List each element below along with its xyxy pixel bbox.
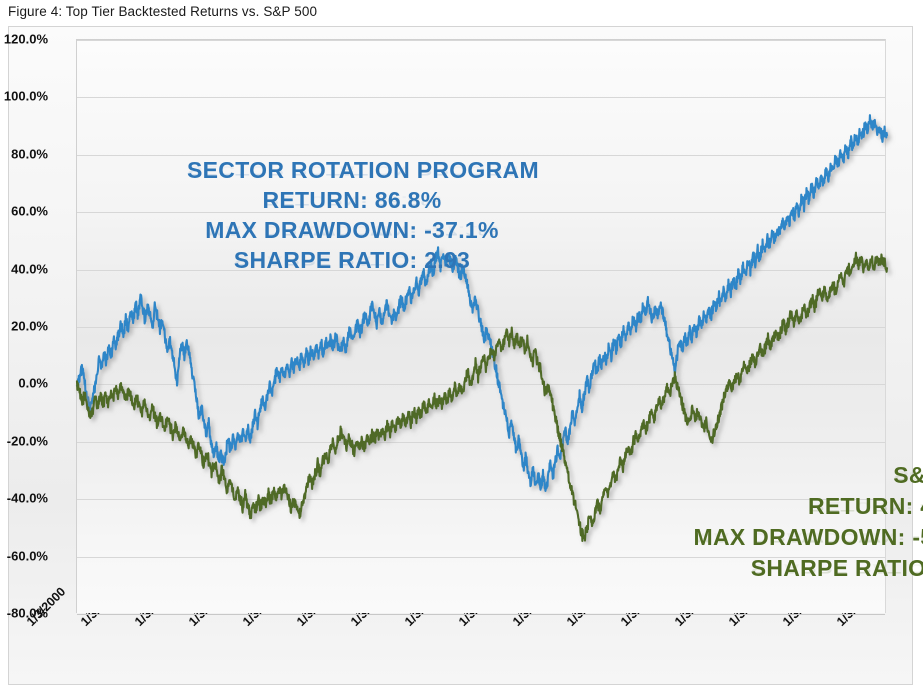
annotation-sp500-text: MAX DRAWDOWN: -53.5% bbox=[677, 526, 923, 549]
chart-frame: 120.0%100.0%80.0%60.0%40.0%20.0%0.0%-20.… bbox=[8, 26, 913, 685]
annotation-sp500-line: RETURN: 40.5%RETURN: 40.5% bbox=[677, 495, 923, 525]
gridline bbox=[77, 614, 885, 615]
y-axis-tick-label: 20.0% bbox=[0, 319, 48, 334]
y-axis-tick-label: -40.0% bbox=[0, 491, 48, 506]
y-axis-tick-label: -20.0% bbox=[0, 433, 48, 448]
annotation-sp500-text: S&P 500 bbox=[677, 464, 923, 487]
annotation-sector-rotation-line: RETURN: 86.8%RETURN: 86.8% bbox=[187, 189, 517, 218]
y-axis-tick-label: 80.0% bbox=[0, 146, 48, 161]
y-axis-tick-label: 60.0% bbox=[0, 204, 48, 219]
annotation-sector-rotation-text: SHARPE RATIO: 2.93 bbox=[187, 249, 517, 272]
plot-area: SECTOR ROTATION PROGRAMSECTOR ROTATION P… bbox=[76, 39, 886, 613]
annotation-sector-rotation-text: SECTOR ROTATION PROGRAM bbox=[187, 159, 517, 182]
annotation-sp500-line: S&P 500S&P 500 bbox=[677, 464, 923, 494]
figure-container: Figure 4: Top Tier Backtested Returns vs… bbox=[0, 0, 923, 693]
annotation-sector-rotation-line: SECTOR ROTATION PROGRAMSECTOR ROTATION P… bbox=[187, 159, 517, 188]
annotation-sector-rotation-text: MAX DRAWDOWN: -37.1% bbox=[187, 219, 517, 242]
y-axis-tick-label: 40.0% bbox=[0, 261, 48, 276]
y-axis-tick-label: 120.0% bbox=[0, 32, 48, 47]
annotation-sp500: S&P 500S&P 500RETURN: 40.5%RETURN: 40.5%… bbox=[677, 464, 923, 588]
figure-caption: Figure 4: Top Tier Backtested Returns vs… bbox=[8, 4, 317, 19]
y-axis-tick-label: 0.0% bbox=[0, 376, 48, 391]
y-axis-tick-label: -60.0% bbox=[0, 548, 48, 563]
annotation-sector-rotation: SECTOR ROTATION PROGRAMSECTOR ROTATION P… bbox=[187, 159, 517, 279]
annotation-sector-rotation-line: SHARPE RATIO: 2.93SHARPE RATIO: 2.93 bbox=[187, 249, 517, 278]
annotation-sp500-text: RETURN: 40.5% bbox=[677, 495, 923, 518]
annotation-sp500-line: MAX DRAWDOWN: -53.5%MAX DRAWDOWN: -53.5% bbox=[677, 526, 923, 556]
annotation-sector-rotation-text: RETURN: 86.8% bbox=[187, 189, 517, 212]
annotation-sector-rotation-line: MAX DRAWDOWN: -37.1%MAX DRAWDOWN: -37.1% bbox=[187, 219, 517, 248]
annotation-sp500-text: SHARPE RATIO: 1.83 bbox=[677, 557, 923, 580]
y-axis-tick-label: 100.0% bbox=[0, 89, 48, 104]
annotation-sp500-line: SHARPE RATIO: 1.83SHARPE RATIO: 1.83 bbox=[677, 557, 923, 587]
